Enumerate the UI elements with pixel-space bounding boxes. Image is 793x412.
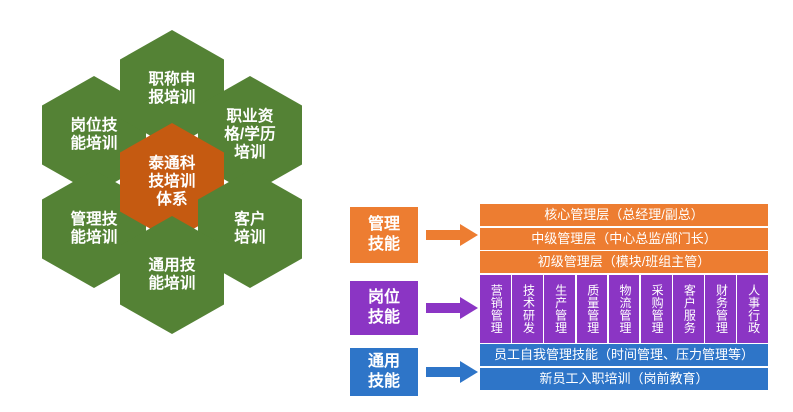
row-junior-management[interactable]: 初级管理层（模块/班组主管）: [480, 251, 768, 273]
arrow-head: [460, 361, 478, 383]
post-column-production[interactable]: 生产管理: [544, 275, 575, 343]
hexagon-label: 职业资 格/学历 培训: [224, 108, 276, 163]
arrow-shaft: [426, 230, 464, 240]
post-column-label: 采购管理: [649, 284, 663, 334]
hexagon-label: 泰通科 技培训 体系: [148, 155, 195, 210]
breakdown-stack: 核心管理层（总经理/副总） 中级管理层（中心总监/部门长） 初级管理层（模块/班…: [480, 204, 768, 391]
post-column-label: 营销管理: [488, 284, 502, 334]
row-core-management[interactable]: 核心管理层（总经理/副总）: [480, 204, 768, 226]
arrow-right-icon-general: [426, 361, 480, 383]
post-column-label: 生产管理: [553, 284, 567, 334]
arrow-shaft: [426, 367, 464, 377]
category-label-post-skills[interactable]: 岗位 技能: [350, 281, 418, 335]
post-column-procurement[interactable]: 采购管理: [641, 275, 672, 343]
arrow-head: [460, 224, 478, 246]
post-column-rnd[interactable]: 技术研发: [512, 275, 543, 343]
post-column-finance[interactable]: 财务管理: [705, 275, 736, 343]
post-column-quality[interactable]: 质量管理: [577, 275, 608, 343]
hexagon-cluster: 岗位技 能培训 职称申 报培训 职业资 格/学历 培训 管理技 能培训 泰通科 …: [22, 10, 322, 355]
post-column-marketing[interactable]: 营销管理: [480, 275, 511, 343]
arrow-shaft: [426, 303, 464, 313]
hexagon-label: 职称申 报培训: [148, 71, 195, 108]
post-column-label: 财务管理: [714, 284, 728, 334]
arrow-right-icon-management: [426, 224, 480, 246]
category-label-text: 通用 技能: [368, 352, 400, 391]
hexagon-label: 岗位技 能培训: [70, 117, 117, 154]
row-new-employee-onboarding[interactable]: 新员工入职培训（岗前教育）: [480, 368, 768, 390]
arrow-right-icon-post: [426, 297, 480, 319]
category-label-text: 管理 技能: [368, 215, 400, 254]
post-column-label: 客户服务: [681, 284, 695, 334]
post-column-customer-service[interactable]: 客户服务: [673, 275, 704, 343]
category-label-general-skills[interactable]: 通用 技能: [350, 348, 418, 396]
post-column-label: 人事行政: [746, 284, 760, 334]
row-middle-management[interactable]: 中级管理层（中心总监/部门长）: [480, 228, 768, 250]
arrow-head: [460, 297, 478, 319]
category-label-text: 岗位 技能: [368, 288, 400, 327]
post-column-logistics[interactable]: 物流管理: [609, 275, 640, 343]
skill-breakdown-panel: 管理 技能 岗位 技能 通用 技能 核心管理层（总经理/副总） 中级管理层（中心…: [340, 196, 780, 396]
post-skill-columns: 营销管理 技术研发 生产管理 质量管理 物流管理 采购管理 客户服务 财务管理 …: [480, 275, 768, 343]
category-label-management-skills[interactable]: 管理 技能: [350, 207, 418, 263]
hexagon-label: 通用技 能培训: [148, 257, 195, 294]
post-column-hr-admin[interactable]: 人事行政: [737, 275, 768, 343]
row-self-management[interactable]: 员工自我管理技能（时间管理、压力管理等）: [480, 344, 768, 366]
post-column-label: 质量管理: [585, 284, 599, 334]
hexagon-label: 客户 培训: [234, 211, 265, 248]
post-column-label: 技术研发: [521, 284, 535, 334]
hexagon-label: 管理技 能培训: [70, 211, 117, 248]
post-column-label: 物流管理: [617, 284, 631, 334]
